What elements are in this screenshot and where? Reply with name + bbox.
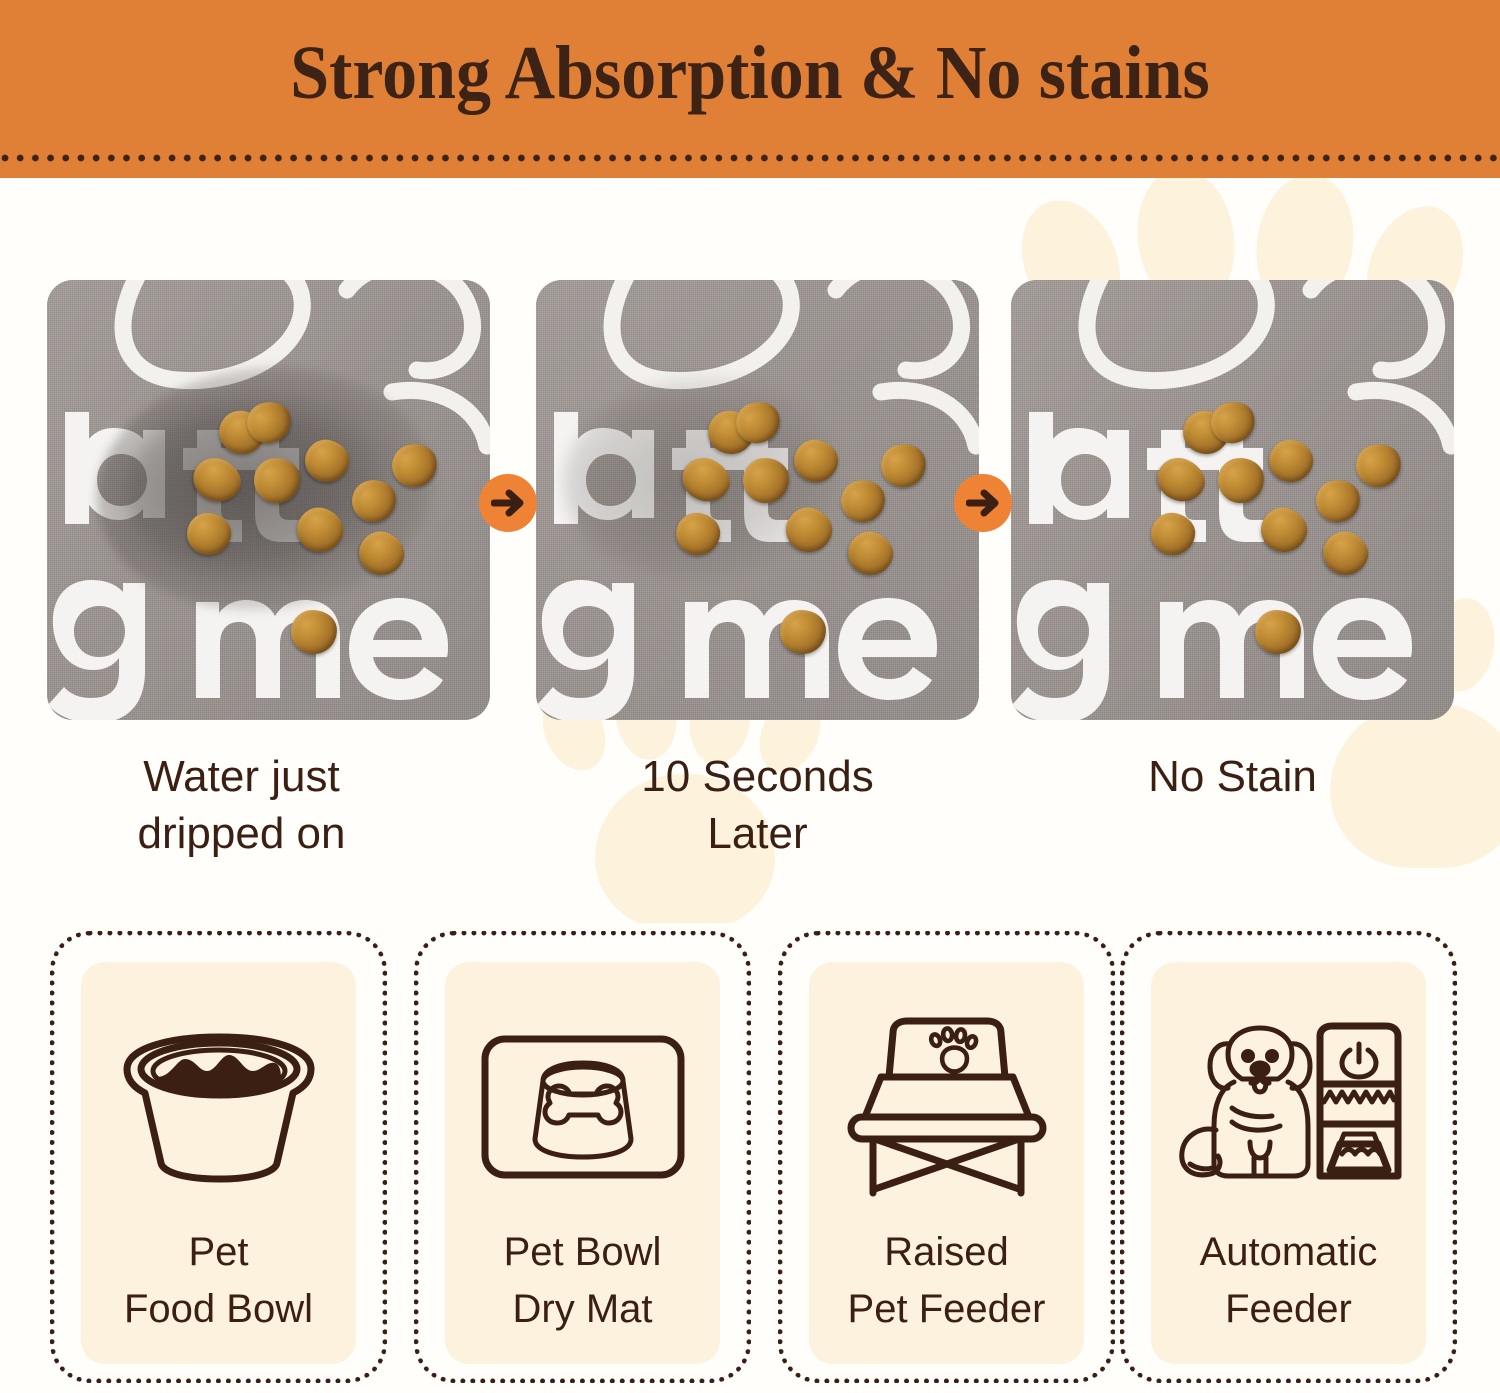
card-label-line2: Dry Mat <box>429 1281 736 1338</box>
use-case-card-automatic-feeder[interactable]: Automatic Feeder <box>1120 931 1457 1383</box>
pet-food-bowl-icon <box>109 1027 329 1187</box>
arrow-right-icon <box>491 488 525 518</box>
demo-caption-2-line2: Later <box>536 805 979 862</box>
arrow-1-button <box>479 474 537 532</box>
header-banner: Strong Absorption & No stains <box>0 0 1500 178</box>
arrow-2-button <box>954 474 1012 532</box>
card-inner-surface: Pet Bowl Dry Mat <box>445 962 720 1364</box>
use-case-card-pet-food-bowl[interactable]: Pet Food Bowl <box>50 931 387 1383</box>
dog-illustration <box>1181 1028 1309 1176</box>
demo-caption-1-line1: Water just <box>20 748 463 805</box>
dotted-divider <box>0 152 1500 164</box>
card-label-line2: Pet Feeder <box>793 1281 1100 1338</box>
card-inner-surface: Raised Pet Feeder <box>809 962 1084 1364</box>
card-icon-wrapper <box>809 1002 1084 1212</box>
demo-caption-3-line1: No Stain <box>1011 748 1454 805</box>
demo-photo-2 <box>536 280 979 720</box>
card-label-pet-food-bowl: Pet Food Bowl <box>65 1224 372 1338</box>
card-label-line1: Pet <box>65 1224 372 1281</box>
card-label-line1: Raised <box>793 1224 1100 1281</box>
card-inner-surface: Automatic Feeder <box>1151 962 1426 1364</box>
power-button-icon <box>1342 1044 1376 1077</box>
automatic-feeder-icon <box>1174 1022 1404 1192</box>
demo-caption-2: 10 Seconds Later <box>536 748 979 862</box>
arrow-right-icon <box>966 488 1000 518</box>
raised-pet-feeder-icon <box>837 1017 1057 1197</box>
card-icon-wrapper <box>1151 1002 1426 1212</box>
demo-photo-1 <box>47 280 490 720</box>
use-case-card-row: Pet Food Bowl Pet Bowl Dry Mat <box>0 923 1500 1393</box>
demo-caption-3: No Stain <box>1011 748 1454 805</box>
card-label-pet-bowl-dry-mat: Pet Bowl Dry Mat <box>429 1224 736 1338</box>
pet-bowl-dry-mat-icon <box>473 1027 693 1187</box>
card-label-line2: Food Bowl <box>65 1281 372 1338</box>
use-case-card-pet-bowl-dry-mat[interactable]: Pet Bowl Dry Mat <box>414 931 751 1383</box>
card-label-line2: Feeder <box>1135 1281 1442 1338</box>
demo-caption-2-line1: 10 Seconds <box>536 748 979 805</box>
demo-photo-3 <box>1011 280 1454 720</box>
page-title: Strong Absorption & No stains <box>60 30 1440 116</box>
demo-caption-1: Water just dripped on <box>20 748 463 862</box>
use-case-card-raised-pet-feeder[interactable]: Raised Pet Feeder <box>778 931 1115 1383</box>
absorption-demo-strip: Water just dripped on 10 Seconds Later N… <box>0 178 1500 923</box>
card-icon-wrapper <box>81 1002 356 1212</box>
feeder-tray <box>1330 1134 1388 1170</box>
card-label-raised-pet-feeder: Raised Pet Feeder <box>793 1224 1100 1338</box>
kibble-row <box>1324 1092 1394 1102</box>
demo-caption-1-line2: dripped on <box>20 805 463 862</box>
card-label-line1: Automatic <box>1135 1224 1442 1281</box>
card-label-automatic-feeder: Automatic Feeder <box>1135 1224 1442 1338</box>
card-label-line1: Pet Bowl <box>429 1224 736 1281</box>
card-icon-wrapper <box>445 1002 720 1212</box>
card-inner-surface: Pet Food Bowl <box>81 962 356 1364</box>
